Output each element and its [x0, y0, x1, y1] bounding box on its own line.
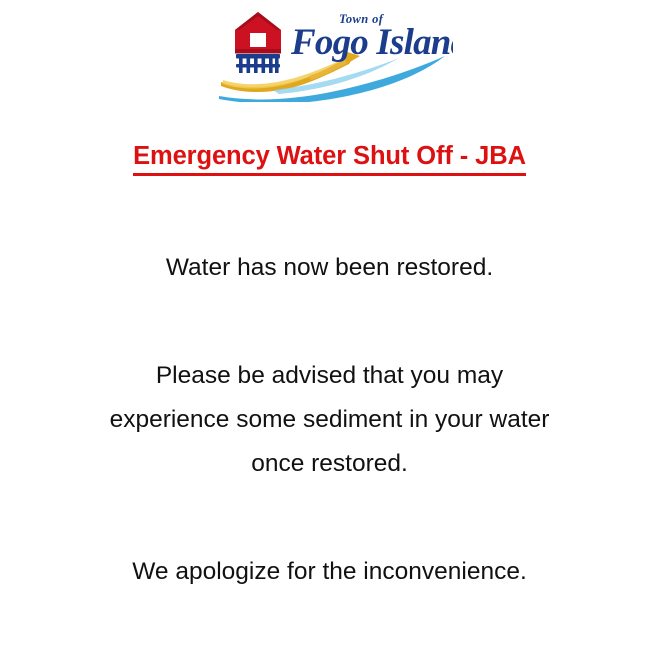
town-logo: Town of Fogo Island [0, 0, 659, 108]
paragraph-sediment: Please be advised that you may experienc… [0, 354, 659, 486]
paragraph-apology: We apologize for the inconvenience. [0, 550, 659, 594]
paragraph-line: once restored. [0, 442, 659, 486]
town-logo-graphic: Town of Fogo Island [213, 6, 453, 102]
paragraph-line: Please be advised that you may [0, 354, 659, 398]
page-title-text: Emergency Water Shut Off - JBA [133, 142, 526, 176]
notice-body: Water has now been restored. Please be a… [0, 204, 659, 594]
wharf-pier-icon [236, 54, 280, 73]
paragraph-restored: Water has now been restored. [0, 246, 659, 290]
water-notice-page: Town of Fogo Island Emergency Water Shut… [0, 0, 659, 670]
logo-wordmark-text: Fogo Island [290, 22, 453, 63]
paragraph-line: experience some sediment in your water [0, 398, 659, 442]
town-of-fogo-island-logo-svg: Town of Fogo Island [213, 6, 453, 102]
page-title: Emergency Water Shut Off - JBA [0, 142, 659, 176]
paragraph-line: Water has now been restored. [0, 246, 659, 290]
paragraph-line: We apologize for the inconvenience. [0, 550, 659, 594]
house-icon [235, 12, 281, 54]
